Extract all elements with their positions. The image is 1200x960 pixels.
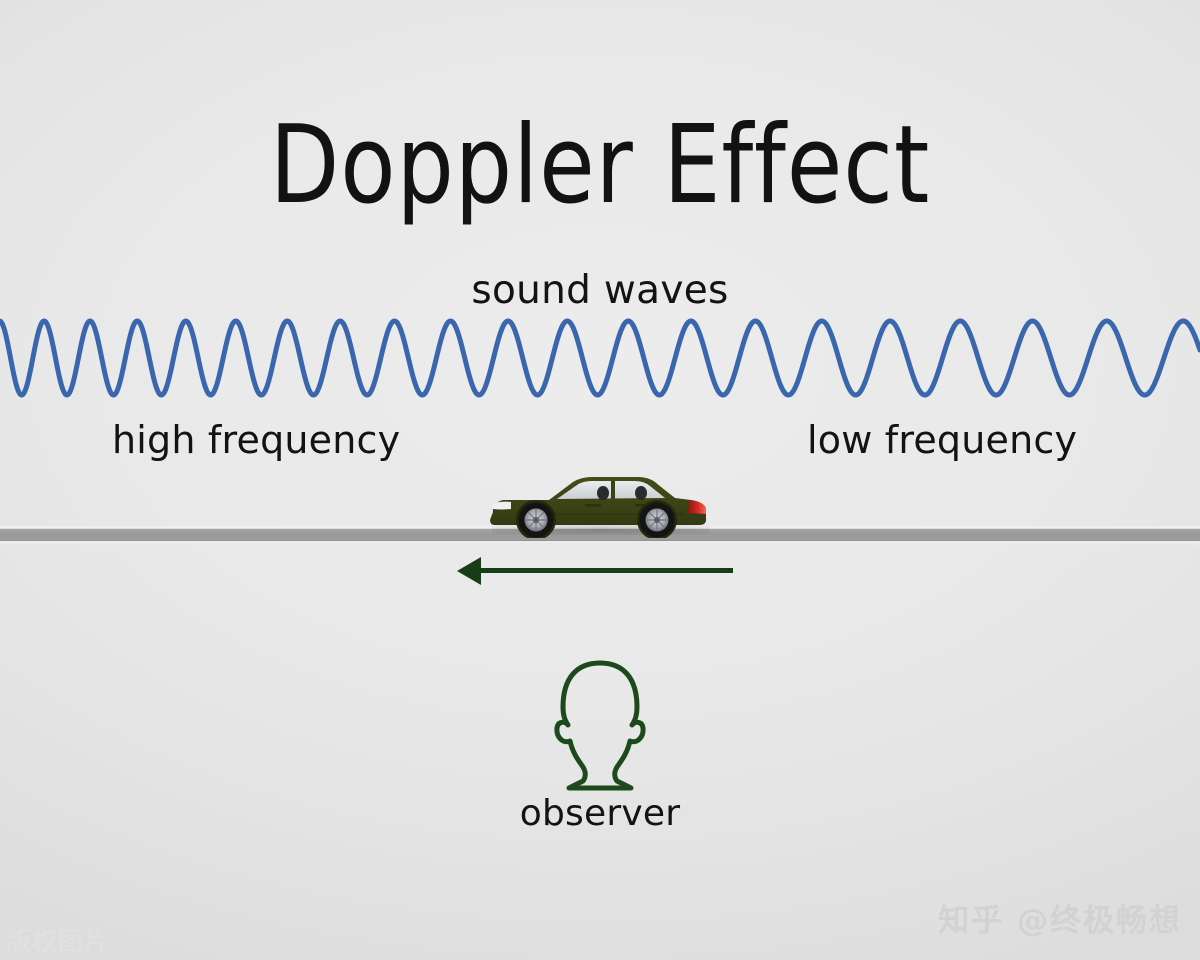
zhihu-watermark: 知乎 @终极畅想 bbox=[938, 895, 1182, 940]
car-b-pillar bbox=[611, 481, 615, 499]
doppler-effect-diagram: Doppler Effect sound waves high frequenc… bbox=[0, 0, 1200, 960]
sound-wave-path bbox=[0, 321, 1200, 395]
high-frequency-label: high frequency bbox=[112, 418, 400, 462]
car-door-handle-front bbox=[585, 504, 601, 507]
car-headlight bbox=[493, 502, 511, 510]
car-hub-front bbox=[533, 517, 539, 523]
page-title: Doppler Effect bbox=[42, 112, 1158, 220]
observer-head-outline bbox=[557, 663, 643, 788]
car-hub-rear bbox=[654, 517, 660, 523]
motion-arrow bbox=[450, 552, 745, 590]
copyright-watermark: 版权图片 bbox=[6, 922, 110, 958]
observer-label: observer bbox=[0, 793, 1200, 834]
arrow-shaft bbox=[480, 568, 733, 573]
sound-wave-graphic bbox=[0, 300, 1200, 420]
low-frequency-label: low frequency bbox=[807, 418, 1077, 462]
car-occupant-rear bbox=[635, 486, 647, 500]
car-taillight bbox=[688, 500, 706, 514]
car-occupant-front bbox=[597, 486, 609, 500]
car-icon bbox=[485, 468, 713, 538]
observer-icon bbox=[545, 655, 655, 795]
arrow-head-icon bbox=[457, 557, 481, 585]
